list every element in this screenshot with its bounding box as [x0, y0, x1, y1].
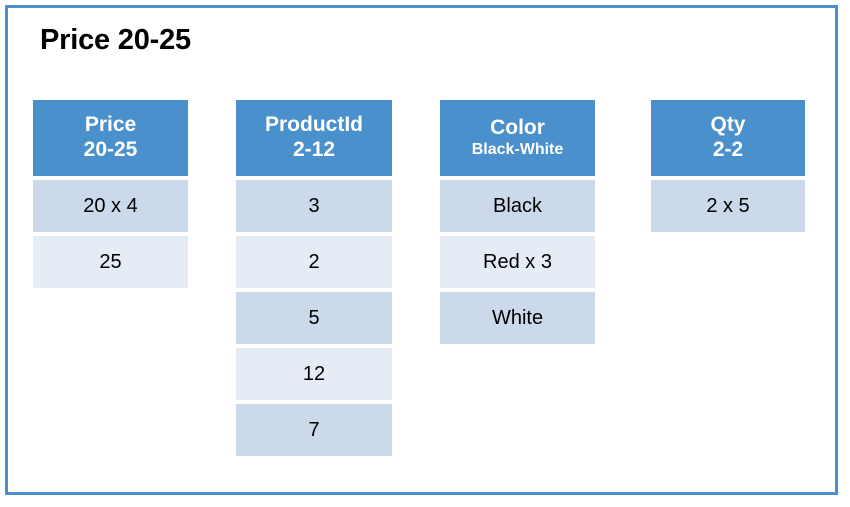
- cell[interactable]: 3: [236, 180, 392, 232]
- column-header-productid[interactable]: ProductId2-12: [236, 100, 392, 176]
- column-header-range: 20-25: [84, 138, 138, 163]
- column-header-range: 2-12: [293, 138, 335, 163]
- column-productid: ProductId2-12325127: [236, 100, 392, 456]
- cell[interactable]: White: [440, 292, 595, 344]
- column-header-title: Color: [490, 116, 545, 141]
- column-header-range: 2-2: [713, 138, 743, 163]
- cell[interactable]: 2 x 5: [651, 180, 805, 232]
- column-header-color[interactable]: ColorBlack-White: [440, 100, 595, 176]
- column-header-price[interactable]: Price20-25: [33, 100, 188, 176]
- column-header-title: ProductId: [265, 113, 363, 138]
- column-color: ColorBlack-WhiteBlackRed x 3White: [440, 100, 595, 344]
- column-header-title: Price: [85, 113, 136, 138]
- cell[interactable]: 2: [236, 236, 392, 288]
- column-header-title: Qty: [710, 113, 745, 138]
- column-header-qty[interactable]: Qty2-2: [651, 100, 805, 176]
- cell[interactable]: 5: [236, 292, 392, 344]
- column-header-range: Black-White: [472, 141, 564, 160]
- cell[interactable]: Black: [440, 180, 595, 232]
- column-qty: Qty2-22 x 5: [651, 100, 805, 232]
- cell[interactable]: 7: [236, 404, 392, 456]
- cell[interactable]: 12: [236, 348, 392, 400]
- cell[interactable]: Red x 3: [440, 236, 595, 288]
- cell[interactable]: 20 x 4: [33, 180, 188, 232]
- cell[interactable]: 25: [33, 236, 188, 288]
- columns-area: Price20-2520 x 425ProductId2-12325127Col…: [0, 0, 850, 507]
- column-price: Price20-2520 x 425: [33, 100, 188, 288]
